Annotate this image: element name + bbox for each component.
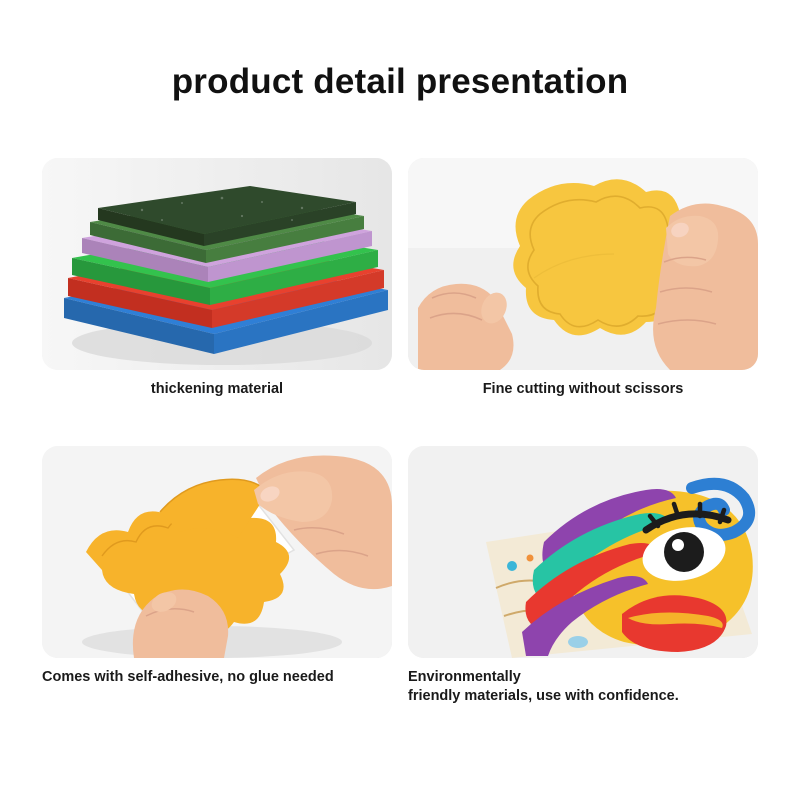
caption-thickening-material: thickening material <box>42 380 392 399</box>
left-hand <box>418 284 514 370</box>
right-hand <box>653 204 758 370</box>
finished-foam-collage-photo <box>408 446 758 658</box>
cell-self-adhesive: Comes with self-adhesive, no glue needed <box>42 446 392 687</box>
photo-grid: thickening material <box>42 158 758 738</box>
page-title: product detail presentation <box>0 62 800 102</box>
cell-thickening-material: thickening material <box>42 158 392 399</box>
product-detail-page: product detail presentation <box>0 0 800 800</box>
caption-eco-friendly-line1: Environmentally <box>408 668 758 687</box>
peeling-illustration <box>42 446 392 658</box>
peeling-adhesive-backing-photo <box>42 446 392 658</box>
hand-holding-yellow-foam-photo <box>408 158 758 370</box>
foam-stack-illustration <box>42 158 392 370</box>
cell-fine-cutting: Fine cutting without scissors <box>408 158 758 399</box>
caption-self-adhesive: Comes with self-adhesive, no glue needed <box>42 668 392 687</box>
caption-fine-cutting: Fine cutting without scissors <box>408 380 758 399</box>
caption-eco-friendly-line2: friendly materials, use with confidence. <box>408 687 758 706</box>
caption-eco-friendly: Environmentally friendly materials, use … <box>408 668 758 706</box>
collage-illustration <box>408 446 758 658</box>
stacked-foam-sheets-photo <box>42 158 392 370</box>
cell-eco-friendly: Environmentally friendly materials, use … <box>408 446 758 706</box>
hand-foam-illustration <box>408 158 758 370</box>
